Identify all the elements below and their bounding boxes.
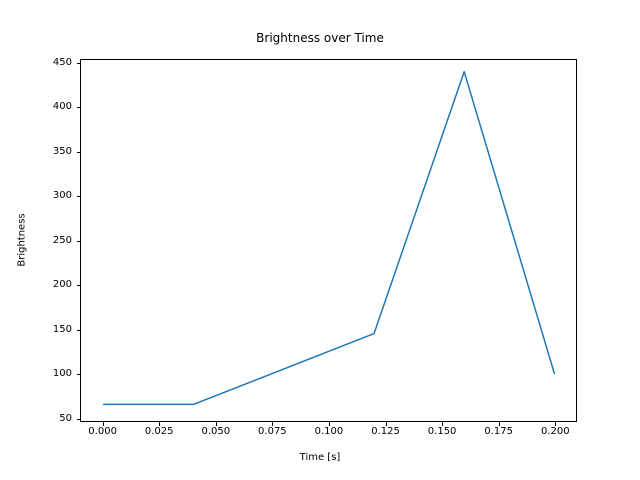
x-axis-tick-mark <box>272 422 273 426</box>
y-axis-tick-label: 150 <box>53 325 72 335</box>
chart-title: Brightness over Time <box>0 31 640 45</box>
data-series-line <box>104 72 555 405</box>
matplotlib-figure: Brightness over Time Brightness 50100150… <box>0 0 640 480</box>
x-axis-tick-label: 0.175 <box>484 427 513 437</box>
x-axis-tick-label: 0.150 <box>428 427 457 437</box>
y-axis-tick-label: 450 <box>53 58 72 68</box>
x-axis-tick-label: 0.100 <box>315 427 344 437</box>
x-axis-tick-mark <box>103 422 104 426</box>
x-axis-tick-mark <box>329 422 330 426</box>
x-axis-tick-mark <box>442 422 443 426</box>
plot-area <box>80 59 577 422</box>
x-axis-tick-mark <box>499 422 500 426</box>
x-axis-tick-mark <box>555 422 556 426</box>
y-axis-tick-label: 350 <box>53 147 72 157</box>
y-axis-tick-label: 200 <box>53 280 72 290</box>
x-axis-tick-label: 0.200 <box>541 427 570 437</box>
x-axis-tick-label: 0.125 <box>371 427 400 437</box>
x-axis-tick-label: 0.050 <box>201 427 230 437</box>
x-axis-tick-label: 0.000 <box>88 427 117 437</box>
x-axis-label: Time [s] <box>0 452 640 463</box>
y-axis-tick-label: 400 <box>53 102 72 112</box>
y-axis-tick-label: 50 <box>59 414 72 424</box>
x-axis-tick-mark <box>159 422 160 426</box>
y-axis-tick-label: 300 <box>53 191 72 201</box>
y-axis-tick-label: 100 <box>53 369 72 379</box>
plot-canvas <box>81 60 576 421</box>
x-axis-tick-mark <box>216 422 217 426</box>
y-axis-tick-label: 250 <box>53 236 72 246</box>
x-axis-tick-label: 0.025 <box>145 427 174 437</box>
x-axis-tick-mark <box>386 422 387 426</box>
x-axis-tick-label: 0.075 <box>258 427 287 437</box>
y-axis-tick-labels: 50100150200250300350400450 <box>0 0 72 480</box>
